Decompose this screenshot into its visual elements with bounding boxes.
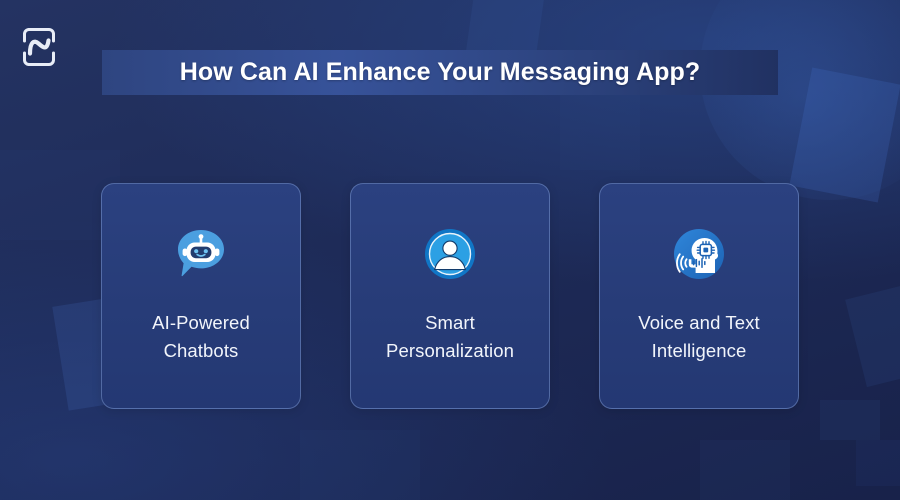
background-square-top-right xyxy=(789,68,900,203)
card-label-voice-and-text-intelligence: Voice and Text Intelligence xyxy=(611,309,787,365)
card-label-line-2: Personalization xyxy=(386,340,514,361)
feature-card-row: AI-Powered Chatbots Smart Personalizatio… xyxy=(101,183,799,409)
card-label-line-2: Chatbots xyxy=(164,340,239,361)
card-label-ai-powered-chatbots: AI-Powered Chatbots xyxy=(113,309,289,365)
card-voice-and-text-intelligence[interactable]: Voice and Text Intelligence xyxy=(599,183,799,409)
user-profile-circle-icon xyxy=(422,226,478,282)
chatbot-speech-bubble-icon xyxy=(173,226,229,282)
background-square-right xyxy=(845,283,900,387)
card-smart-personalization[interactable]: Smart Personalization xyxy=(350,183,550,409)
card-ai-powered-chatbots[interactable]: AI-Powered Chatbots xyxy=(101,183,301,409)
card-label-line-1: Voice and Text xyxy=(638,312,759,333)
card-label-line-1: AI-Powered xyxy=(152,312,250,333)
card-label-line-2: Intelligence xyxy=(652,340,747,361)
slide-canvas: How Can AI Enhance Your Messaging App? xyxy=(0,0,900,500)
title-banner: How Can AI Enhance Your Messaging App? xyxy=(102,50,778,95)
background-rect-e xyxy=(820,400,880,440)
brand-logo-icon xyxy=(22,26,56,68)
page-title: How Can AI Enhance Your Messaging App? xyxy=(180,58,701,87)
background-glow xyxy=(700,0,900,200)
card-label-line-1: Smart xyxy=(425,312,475,333)
card-label-smart-personalization: Smart Personalization xyxy=(362,309,538,365)
background-rect-h xyxy=(300,430,420,500)
background-rect-g xyxy=(700,440,790,500)
ai-brain-head-soundwave-icon xyxy=(671,226,727,282)
background-rect-f xyxy=(856,440,900,486)
